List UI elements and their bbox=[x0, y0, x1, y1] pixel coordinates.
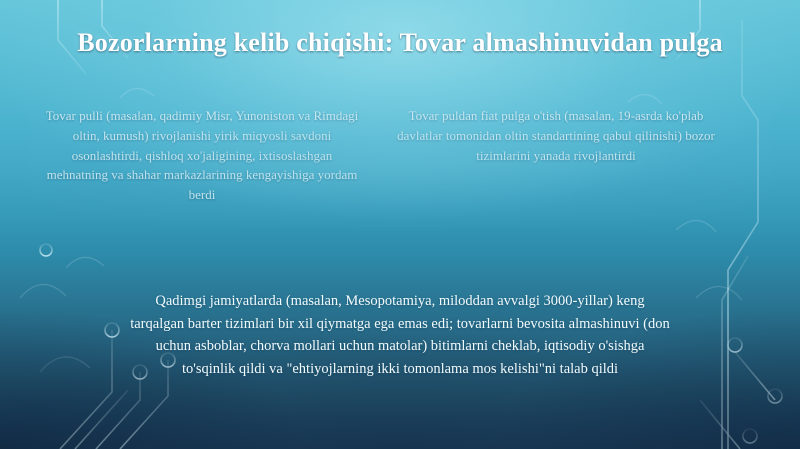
presentation-slide: Bozorlarning kelib chiqishi: Tovar almas… bbox=[0, 0, 800, 449]
right-column-text: Tovar puldan fiat pulga o'tish (masalan,… bbox=[396, 106, 716, 165]
bottom-paragraph-text: Qadimgi jamiyatlarda (masalan, Mesopotam… bbox=[130, 290, 670, 380]
circuit-nodes-right bbox=[728, 338, 782, 443]
slide-title: Bozorlarning kelib chiqishi: Tovar almas… bbox=[0, 27, 800, 58]
background-decoration bbox=[0, 0, 800, 449]
corner-vignette bbox=[0, 0, 800, 449]
circuit-traces-right bbox=[700, 20, 782, 449]
left-column-text: Tovar pulli (masalan, qadimiy Misr, Yuno… bbox=[42, 106, 362, 205]
